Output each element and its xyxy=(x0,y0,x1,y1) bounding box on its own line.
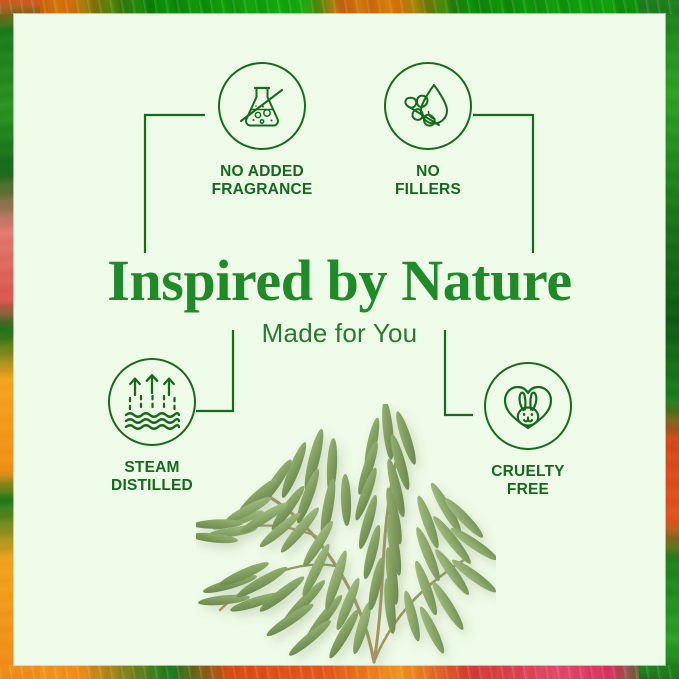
badge-no-added-fragrance: NO ADDED FRAGRANCE xyxy=(206,62,318,199)
steam-arrows-water-icon xyxy=(121,371,183,433)
badge-ring xyxy=(484,362,572,450)
badge-no-fillers: NO FILLERS xyxy=(372,62,484,199)
page-subtitle: Made for You xyxy=(0,320,679,346)
product-benefits-infographic: NO ADDED FRAGRANCE xyxy=(0,0,679,679)
badge-ring xyxy=(108,358,196,446)
rabbit-heart-icon xyxy=(497,375,559,437)
droplet-leaves-icon xyxy=(398,76,458,136)
flask-no-fragrance-icon xyxy=(232,76,292,136)
badge-caption: NO ADDED FRAGRANCE xyxy=(206,163,318,199)
page-title: Inspired by Nature xyxy=(0,252,679,310)
badge-steam-distilled: STEAM DISTILLED xyxy=(96,358,208,495)
badge-ring xyxy=(384,62,472,150)
badge-caption: NO FILLERS xyxy=(372,163,484,199)
badge-caption: STEAM DISTILLED xyxy=(96,459,208,495)
badge-caption: CRUELTY FREE xyxy=(472,463,584,499)
badge-cruelty-free: CRUELTY FREE xyxy=(472,362,584,499)
badge-ring xyxy=(218,62,306,150)
